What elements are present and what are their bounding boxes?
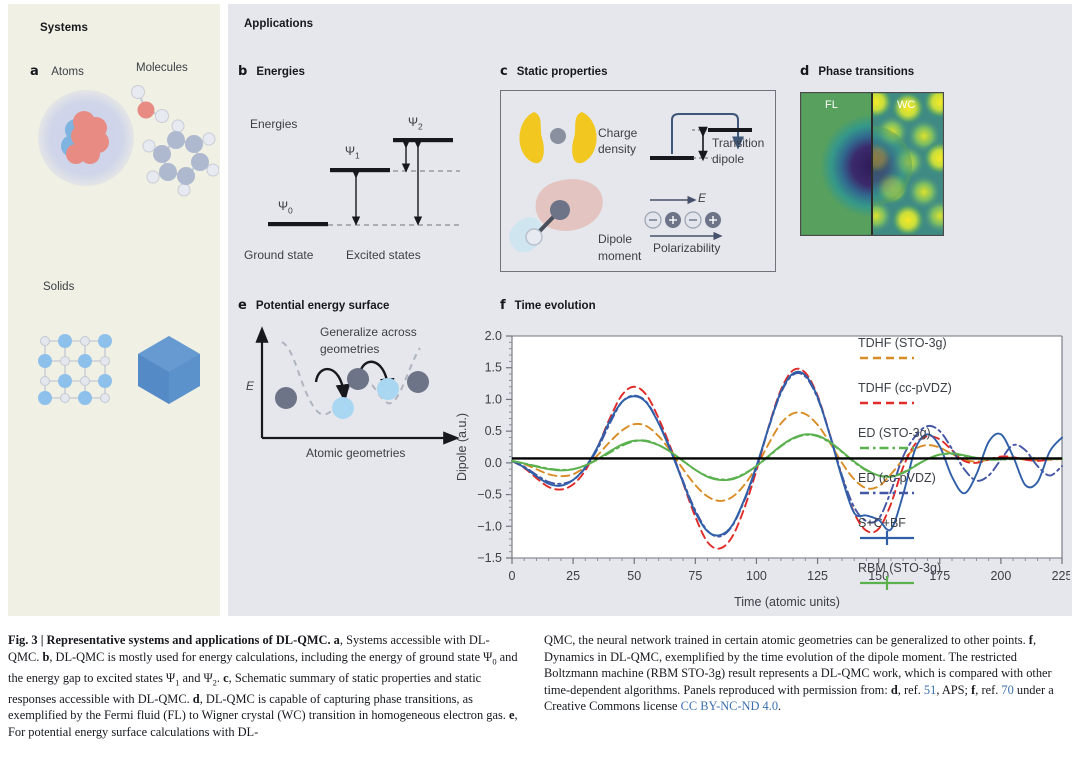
legend-item-swatch xyxy=(858,395,920,411)
label-polarizability: Polarizability xyxy=(653,241,720,255)
label-psi1: Ψ1 xyxy=(345,144,360,160)
chart-legend: TDHF (STO-3g)TDHF (cc-pVDZ)ED (STO-3g)ED… xyxy=(858,336,1058,606)
panel-letter-a: a xyxy=(30,64,39,79)
svg-text:0: 0 xyxy=(509,569,516,583)
systems-heading: Systems xyxy=(40,22,88,34)
label-psi2: Ψ2 xyxy=(408,115,423,131)
label-ground-state: Ground state xyxy=(244,248,313,262)
svg-text:1.5: 1.5 xyxy=(485,361,502,375)
legend-item-swatch xyxy=(858,575,920,591)
panel-c-title: Static properties xyxy=(517,66,608,78)
legend-item[interactable]: ED (cc-pVDZ) xyxy=(858,471,1058,501)
legend-item-swatch xyxy=(858,485,920,501)
svg-text:−1.0: −1.0 xyxy=(477,519,502,533)
panel-f-title: Time evolution xyxy=(515,300,596,312)
label-charge-density-2: density xyxy=(598,142,636,156)
svg-text:2.0: 2.0 xyxy=(485,329,502,343)
label-wc: WC xyxy=(897,99,915,111)
panel-e-title: Potential energy surface xyxy=(256,300,390,312)
legend-item[interactable]: TDHF (cc-pVDZ) xyxy=(858,381,1058,411)
label-transition-dipole-1: Transition xyxy=(712,136,764,150)
crystal-illustration xyxy=(134,334,204,406)
label-transition-dipole-2: dipole xyxy=(712,152,744,166)
legend-item-label: TDHF (cc-pVDZ) xyxy=(858,381,1058,395)
legend-item-swatch xyxy=(858,530,920,546)
svg-text:100: 100 xyxy=(746,569,767,583)
label-dipole-moment-1: Dipole xyxy=(598,232,632,246)
panel-c-header: cStatic properties xyxy=(500,62,607,80)
chart-ylabel: Dipole (a.u.) xyxy=(455,413,469,481)
legend-item[interactable]: TDHF (STO-3g) xyxy=(858,336,1058,366)
figure-caption: Fig. 3 | Representative systems and appl… xyxy=(0,624,1080,777)
svg-text:0.5: 0.5 xyxy=(485,424,502,438)
label-field-E: E xyxy=(698,191,706,205)
label-solids: Solids xyxy=(43,281,74,293)
energies-axis-label: Energies xyxy=(250,117,297,131)
label-generalize-2: geometries xyxy=(320,342,379,356)
svg-text:125: 125 xyxy=(807,569,828,583)
panel-letter-d: d xyxy=(800,64,809,79)
label-psi0: Ψ0 xyxy=(278,199,293,215)
legend-item-label: TDHF (STO-3g) xyxy=(858,336,1058,350)
panel-letter-f: f xyxy=(500,298,506,313)
panel-letter-b: b xyxy=(238,64,247,79)
figure-area: Systems a Atoms Molecules Solids xyxy=(0,0,1080,620)
legend-item-label: ED (STO-3g) xyxy=(858,426,1058,440)
caption-left-column: Fig. 3 | Representative systems and appl… xyxy=(8,632,520,741)
legend-item[interactable]: S+C+BF xyxy=(858,516,1058,546)
svg-text:50: 50 xyxy=(627,569,641,583)
panel-f-header: fTime evolution xyxy=(500,296,596,314)
label-dipole-moment-2: moment xyxy=(598,249,641,263)
legend-item-label: RBM (STO-3g) xyxy=(858,561,1058,575)
label-molecules: Molecules xyxy=(136,62,188,74)
svg-text:−1.5: −1.5 xyxy=(477,551,502,565)
label-fl: FL xyxy=(825,99,838,111)
svg-text:−0.5: −0.5 xyxy=(477,488,502,502)
panel-b-header: bEnergies xyxy=(238,62,305,80)
panel-letter-c: c xyxy=(500,64,508,79)
legend-item[interactable]: RBM (STO-3g) xyxy=(858,561,1058,591)
static-properties-box xyxy=(500,90,776,272)
label-charge-density-1: Charge xyxy=(598,126,637,140)
svg-text:75: 75 xyxy=(688,569,702,583)
atom-illustration xyxy=(32,84,140,192)
label-generalize-1: Generalize across xyxy=(320,325,417,339)
label-atoms: Atoms xyxy=(51,66,84,78)
legend-item-swatch xyxy=(858,440,920,456)
svg-text:0.0: 0.0 xyxy=(485,456,502,470)
applications-heading: Applications xyxy=(244,18,313,30)
lattice-illustration xyxy=(38,332,114,406)
applications-panel: Applications bEnergies E xyxy=(228,4,1072,616)
panel-d-title: Phase transitions xyxy=(818,66,914,78)
label-pes-xaxis: Atomic geometries xyxy=(306,446,405,460)
legend-item[interactable]: ED (STO-3g) xyxy=(858,426,1058,456)
systems-panel: Systems a Atoms Molecules Solids xyxy=(8,4,220,616)
label-pes-yaxis: E xyxy=(246,379,254,393)
chart-xlabel: Time (atomic units) xyxy=(734,595,840,609)
phase-transition-image xyxy=(800,92,944,236)
svg-text:1.0: 1.0 xyxy=(485,392,502,406)
systems-atoms-label-row: a Atoms xyxy=(30,62,84,80)
svg-text:25: 25 xyxy=(566,569,580,583)
molecule-illustration xyxy=(124,82,219,212)
panel-b-title: Energies xyxy=(256,66,305,78)
label-excited-states: Excited states xyxy=(346,248,421,262)
legend-item-label: S+C+BF xyxy=(858,516,1058,530)
panel-e-header: ePotential energy surface xyxy=(238,296,389,314)
caption-right-column: QMC, the neural network trained in certa… xyxy=(544,632,1056,715)
legend-item-swatch xyxy=(858,350,920,366)
panel-letter-e: e xyxy=(238,298,247,313)
legend-item-label: ED (cc-pVDZ) xyxy=(858,471,1058,485)
panel-d-header: dPhase transitions xyxy=(800,62,914,80)
